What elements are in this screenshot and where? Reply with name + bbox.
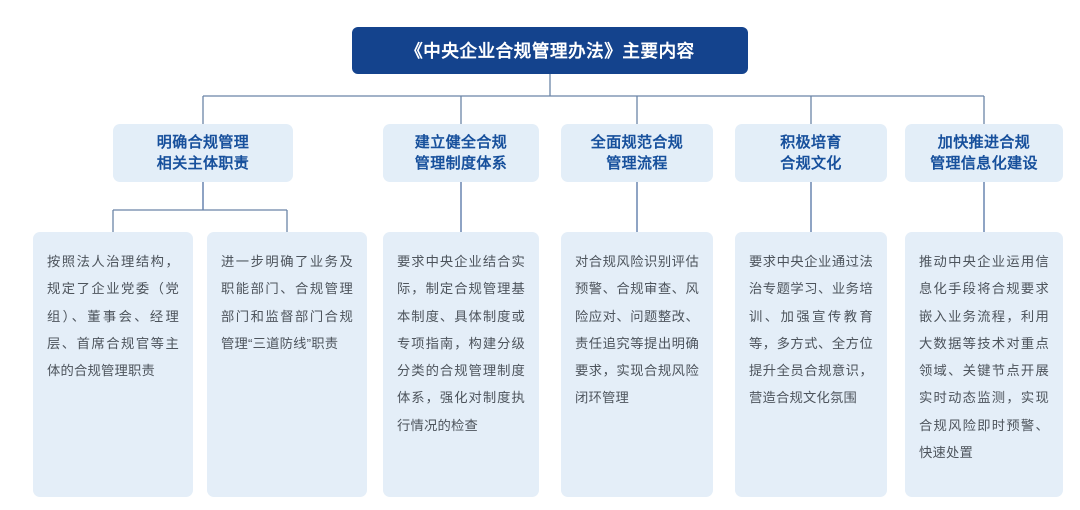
category-box-2: 建立健全合规 管理制度体系: [383, 124, 539, 182]
category-label-4: 积极培育 合规文化: [780, 132, 842, 175]
org-chart-diagram: 《中央企业合规管理办法》主要内容 明确合规管理 相关主体职责 建立健全合规 管理…: [0, 0, 1080, 510]
detail-box-4-1: 要求中央企业通过法治专题学习、业务培训、加强宣传教育等，多方式、全方位提升全员合…: [735, 232, 887, 497]
category-box-3: 全面规范合规 管理流程: [561, 124, 713, 182]
category-label-2: 建立健全合规 管理制度体系: [415, 132, 507, 175]
root-node: 《中央企业合规管理办法》主要内容: [352, 27, 748, 74]
detail-text-5-1: 推动中央企业运用信息化手段将合规要求嵌入业务流程，利用大数据等技术对重点领域、关…: [919, 248, 1049, 466]
detail-box-2-1: 要求中央企业结合实际，制定合规管理基本制度、具体制度或专项指南，构建分级分类的合…: [383, 232, 539, 497]
detail-box-1-1: 按照法人治理结构，规定了企业党委（党组）、董事会、经理层、首席合规官等主体的合规…: [33, 232, 193, 497]
detail-text-1-2: 进一步明确了业务及职能部门、合规管理部门和监督部门合规管理“三道防线”职责: [221, 248, 353, 357]
detail-text-1-1: 按照法人治理结构，规定了企业党委（党组）、董事会、经理层、首席合规官等主体的合规…: [47, 248, 179, 384]
root-node-label: 《中央企业合规管理办法》主要内容: [405, 38, 695, 63]
detail-box-1-2: 进一步明确了业务及职能部门、合规管理部门和监督部门合规管理“三道防线”职责: [207, 232, 367, 497]
category-label-5: 加快推进合规 管理信息化建设: [930, 132, 1038, 175]
detail-box-5-1: 推动中央企业运用信息化手段将合规要求嵌入业务流程，利用大数据等技术对重点领域、关…: [905, 232, 1063, 497]
detail-text-4-1: 要求中央企业通过法治专题学习、业务培训、加强宣传教育等，多方式、全方位提升全员合…: [749, 248, 873, 412]
category-box-1: 明确合规管理 相关主体职责: [113, 124, 293, 182]
detail-text-3-1: 对合规风险识别评估预警、合规审查、风险应对、问题整改、责任追究等提出明确要求，实…: [575, 248, 699, 412]
detail-box-3-1: 对合规风险识别评估预警、合规审查、风险应对、问题整改、责任追究等提出明确要求，实…: [561, 232, 713, 497]
category-box-5: 加快推进合规 管理信息化建设: [905, 124, 1063, 182]
category-label-3: 全面规范合规 管理流程: [591, 132, 683, 175]
category-box-4: 积极培育 合规文化: [735, 124, 887, 182]
category-label-1: 明确合规管理 相关主体职责: [157, 132, 249, 175]
detail-text-2-1: 要求中央企业结合实际，制定合规管理基本制度、具体制度或专项指南，构建分级分类的合…: [397, 248, 525, 439]
